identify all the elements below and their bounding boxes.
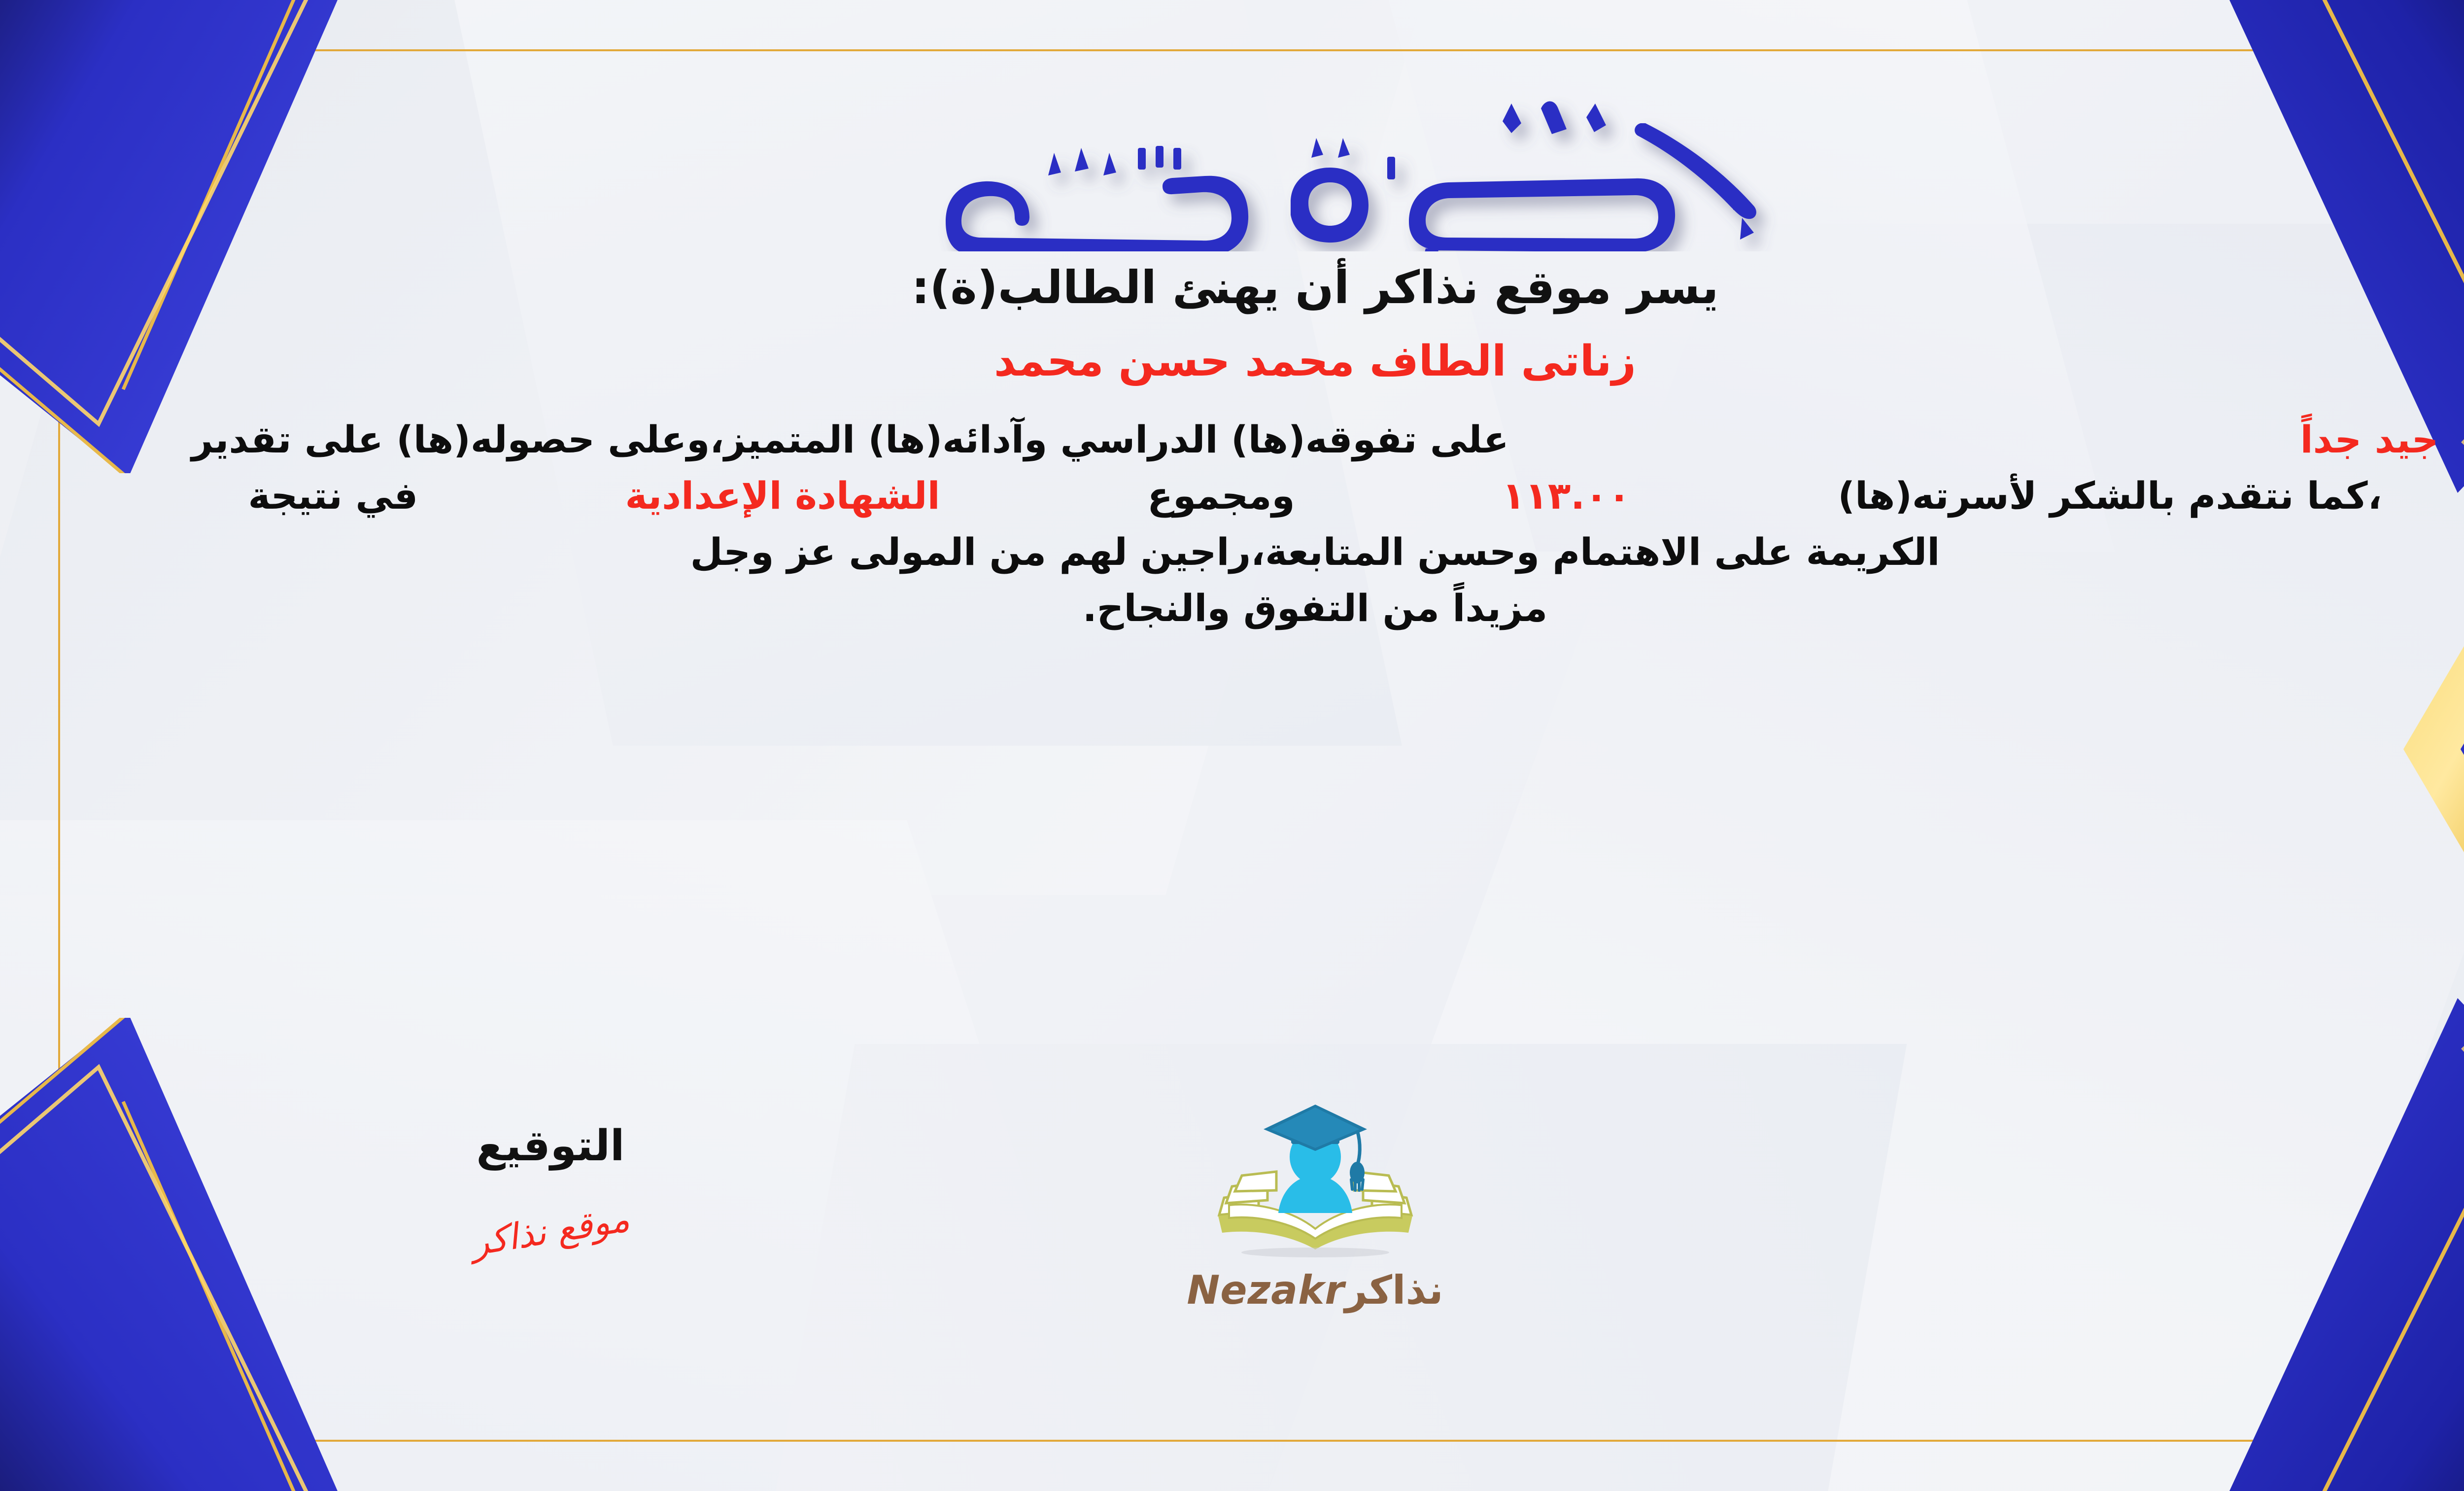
intro-line: يسر موقع نذاكر أن يهنئ الطالب(ة): — [912, 261, 1719, 314]
certificate-page: يسر موقع نذاكر أن يهنئ الطالب(ة): زناتى … — [0, 0, 2464, 1491]
student-name: زناتى الطاف محمد حسن محمد — [994, 337, 1636, 386]
certificate-title — [0, 74, 2464, 251]
body-line-3: الكريمة على الاهتمام وحسن المتابعة،راجين… — [192, 524, 2439, 580]
total-label: ومجموع — [1147, 468, 1295, 524]
grade-value: جيد جداً — [2300, 412, 2439, 468]
logo-latin: Nezakr — [1187, 1267, 1344, 1313]
site-logo: نذاكرNezakr — [0, 1102, 2464, 1313]
thanks-clause: ،كما نتقدم بالشكر لأسرته(ها) — [1838, 468, 2382, 524]
total-score-value: ١١٣.٠٠ — [1502, 468, 1631, 524]
body-line-4: مزيداً من التفوق والنجاح. — [192, 580, 2439, 636]
certificate-footer: التوقيع موقع نذاكر — [0, 1121, 2464, 1397]
body-paragraph: جيد جداً على تفوقه(ها) الدراسي وآدائه(ها… — [192, 412, 2439, 636]
result-label: في نتيجة — [248, 468, 418, 524]
calligraphy-title-icon — [798, 74, 1833, 251]
graduate-book-logo-icon — [1209, 1102, 1421, 1264]
logo-arabic: نذاكر — [1345, 1267, 1443, 1313]
body-line-1-text: على تفوقه(ها) الدراسي وآدائه(ها) المتميز… — [192, 412, 1509, 468]
body-line-2: ،كما نتقدم بالشكر لأسرته(ها) ١١٣.٠٠ ومجم… — [248, 468, 2382, 524]
certificate-type: الشهادة الإعدادية — [625, 468, 940, 524]
certificate-content: يسر موقع نذاكر أن يهنئ الطالب(ة): زناتى … — [0, 0, 2464, 1491]
logo-wordmark: نذاكرNezakr — [1187, 1267, 1443, 1313]
body-line-1: جيد جداً على تفوقه(ها) الدراسي وآدائه(ها… — [192, 412, 2439, 468]
